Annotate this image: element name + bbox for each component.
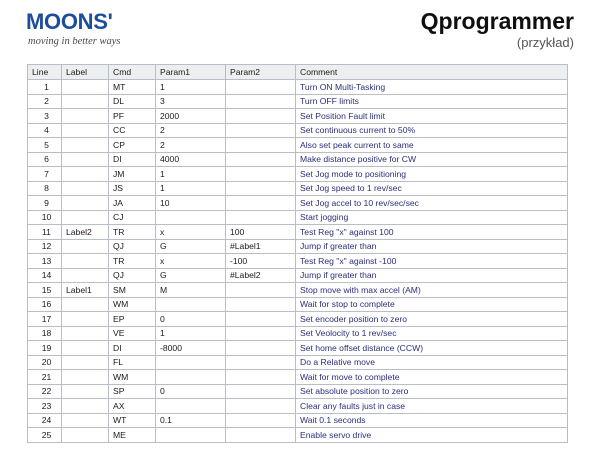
- cell-param2[interactable]: 100: [226, 225, 296, 240]
- cell-param2[interactable]: [226, 181, 296, 196]
- cell-param2[interactable]: [226, 80, 296, 95]
- cell-comment[interactable]: Jump if greater than: [296, 239, 568, 254]
- table-row[interactable]: 17EP0Set encoder position to zero: [28, 312, 568, 327]
- brand-tagline: moving in better ways: [28, 36, 166, 48]
- cell-cmd[interactable]: SM: [109, 283, 156, 298]
- cell-cmd[interactable]: JS: [109, 181, 156, 196]
- cell-line[interactable]: 4: [28, 123, 62, 138]
- cell-cmd[interactable]: PF: [109, 109, 156, 124]
- cell-param1[interactable]: 3: [156, 94, 226, 109]
- cell-param1[interactable]: [156, 297, 226, 312]
- cell-cmd[interactable]: CP: [109, 138, 156, 153]
- cell-comment[interactable]: Set Jog accel to 10 rev/sec/sec: [296, 196, 568, 211]
- cell-label[interactable]: [62, 94, 109, 109]
- cell-param2[interactable]: [226, 138, 296, 153]
- cell-comment[interactable]: Wait for stop to complete: [296, 297, 568, 312]
- cell-param1[interactable]: 1: [156, 80, 226, 95]
- cell-comment[interactable]: Enable servo drive: [296, 428, 568, 443]
- brand-wordmark: MOONS': [26, 11, 166, 33]
- cell-cmd[interactable]: MT: [109, 80, 156, 95]
- column-header-line: Line: [28, 65, 62, 80]
- cell-line[interactable]: 8: [28, 181, 62, 196]
- cell-param1[interactable]: 2: [156, 123, 226, 138]
- cell-label[interactable]: [62, 399, 109, 414]
- cell-param1[interactable]: x: [156, 254, 226, 269]
- table-row[interactable]: 25MEEnable servo drive: [28, 428, 568, 443]
- cell-line[interactable]: 18: [28, 326, 62, 341]
- table-row[interactable]: 5CP2Also set peak current to same: [28, 138, 568, 153]
- table-row[interactable]: 2DL3Turn OFF limits: [28, 94, 568, 109]
- cell-line[interactable]: 25: [28, 428, 62, 443]
- cell-comment[interactable]: Also set peak current to same: [296, 138, 568, 153]
- cell-param2[interactable]: [226, 167, 296, 182]
- table-row[interactable]: 4CC2Set continuous current to 50%: [28, 123, 568, 138]
- cell-param2[interactable]: #Label2: [226, 268, 296, 283]
- cell-param1[interactable]: [156, 210, 226, 225]
- cell-label[interactable]: [62, 355, 109, 370]
- cell-param2[interactable]: [226, 109, 296, 124]
- cell-label[interactable]: [62, 196, 109, 211]
- cell-param1[interactable]: 0: [156, 384, 226, 399]
- cell-param2[interactable]: [226, 370, 296, 385]
- table-row[interactable]: 12QJG#Label1Jump if greater than: [28, 239, 568, 254]
- column-header-cmd: Cmd: [109, 65, 156, 80]
- table-row[interactable]: 22SP0Set absolute position to zero: [28, 384, 568, 399]
- table-row[interactable]: 23AXClear any faults just in case: [28, 399, 568, 414]
- cell-line[interactable]: 22: [28, 384, 62, 399]
- cell-line[interactable]: 21: [28, 370, 62, 385]
- cell-comment[interactable]: Set Position Fault limit: [296, 109, 568, 124]
- table-row[interactable]: 18VE1Set Veolocity to 1 rev/sec: [28, 326, 568, 341]
- cell-label[interactable]: [62, 123, 109, 138]
- cell-line[interactable]: 23: [28, 399, 62, 414]
- table-row[interactable]: 24WT0.1Wait 0.1 seconds: [28, 413, 568, 428]
- cell-line[interactable]: 9: [28, 196, 62, 211]
- cell-param1[interactable]: 0.1: [156, 413, 226, 428]
- cell-cmd[interactable]: CC: [109, 123, 156, 138]
- cell-cmd[interactable]: EP: [109, 312, 156, 327]
- table-row[interactable]: 11Label2TRx100Test Reg "x" against 100: [28, 225, 568, 240]
- cell-param2[interactable]: [226, 94, 296, 109]
- cell-comment[interactable]: Test Reg "x" against -100: [296, 254, 568, 269]
- cell-cmd[interactable]: WM: [109, 297, 156, 312]
- cell-line[interactable]: 19: [28, 341, 62, 356]
- cell-param2[interactable]: [226, 413, 296, 428]
- cell-comment[interactable]: Wait 0.1 seconds: [296, 413, 568, 428]
- table-row[interactable]: 13TRx-100Test Reg "x" against -100: [28, 254, 568, 269]
- cell-param2[interactable]: [226, 210, 296, 225]
- cell-param2[interactable]: [226, 297, 296, 312]
- table-row[interactable]: 7JM1Set Jog mode to positioning: [28, 167, 568, 182]
- cell-param1[interactable]: 2000: [156, 109, 226, 124]
- cell-comment[interactable]: Make distance positive for CW: [296, 152, 568, 167]
- cell-param1[interactable]: G: [156, 239, 226, 254]
- cell-line[interactable]: 24: [28, 413, 62, 428]
- cell-cmd[interactable]: TR: [109, 254, 156, 269]
- table-row[interactable]: 1MT1Turn ON Multi-Tasking: [28, 80, 568, 95]
- cell-param2[interactable]: [226, 152, 296, 167]
- cell-cmd[interactable]: ME: [109, 428, 156, 443]
- cell-cmd[interactable]: JA: [109, 196, 156, 211]
- cell-line[interactable]: 15: [28, 283, 62, 298]
- title-block: Qprogrammer (przykład): [421, 8, 574, 51]
- cell-cmd[interactable]: FL: [109, 355, 156, 370]
- cell-param1[interactable]: [156, 355, 226, 370]
- cell-cmd[interactable]: QJ: [109, 268, 156, 283]
- cell-comment[interactable]: Test Reg "x" against 100: [296, 225, 568, 240]
- cell-line[interactable]: 3: [28, 109, 62, 124]
- cell-label[interactable]: [62, 210, 109, 225]
- cell-label[interactable]: [62, 312, 109, 327]
- cell-label[interactable]: [62, 384, 109, 399]
- cell-comment[interactable]: Clear any faults just in case: [296, 399, 568, 414]
- cell-comment[interactable]: Turn ON Multi-Tasking: [296, 80, 568, 95]
- table-row[interactable]: 20FLDo a Relative move: [28, 355, 568, 370]
- cell-param2[interactable]: [226, 312, 296, 327]
- cell-comment[interactable]: Set continuous current to 50%: [296, 123, 568, 138]
- cell-line[interactable]: 12: [28, 239, 62, 254]
- cell-cmd[interactable]: SP: [109, 384, 156, 399]
- table-row[interactable]: 15Label1SMMStop move with max accel (AM): [28, 283, 568, 298]
- table-header-row: Line Label Cmd Param1 Param2 Comment: [28, 65, 568, 80]
- cell-param1[interactable]: [156, 399, 226, 414]
- cell-line[interactable]: 5: [28, 138, 62, 153]
- cell-param2[interactable]: [226, 341, 296, 356]
- cell-label[interactable]: [62, 297, 109, 312]
- cell-cmd[interactable]: TR: [109, 225, 156, 240]
- cell-param2[interactable]: [226, 428, 296, 443]
- cell-comment[interactable]: Wait for move to complete: [296, 370, 568, 385]
- cell-label[interactable]: [62, 138, 109, 153]
- cell-param1[interactable]: 10: [156, 196, 226, 211]
- cell-label[interactable]: Label2: [62, 225, 109, 240]
- table-row[interactable]: 19DI-8000Set home offset distance (CCW): [28, 341, 568, 356]
- cell-label[interactable]: [62, 413, 109, 428]
- cell-cmd[interactable]: QJ: [109, 239, 156, 254]
- cell-line[interactable]: 14: [28, 268, 62, 283]
- cell-param2[interactable]: [226, 355, 296, 370]
- cell-param1[interactable]: x: [156, 225, 226, 240]
- page-header: MOONS' moving in better ways Qprogrammer…: [0, 0, 600, 58]
- table-row[interactable]: 3PF2000Set Position Fault limit: [28, 109, 568, 124]
- column-header-param2: Param2: [226, 65, 296, 80]
- cell-label[interactable]: [62, 428, 109, 443]
- cell-comment[interactable]: Set home offset distance (CCW): [296, 341, 568, 356]
- cell-param2[interactable]: [226, 123, 296, 138]
- cell-comment[interactable]: Set Jog mode to positioning: [296, 167, 568, 182]
- table-body: 1MT1Turn ON Multi-Tasking2DL3Turn OFF li…: [28, 80, 568, 443]
- cell-param1[interactable]: G: [156, 268, 226, 283]
- cell-param1[interactable]: 4000: [156, 152, 226, 167]
- column-header-comment: Comment: [296, 65, 568, 80]
- cell-label[interactable]: [62, 181, 109, 196]
- cell-line[interactable]: 13: [28, 254, 62, 269]
- cell-label[interactable]: [62, 152, 109, 167]
- cell-comment[interactable]: Set Veolocity to 1 rev/sec: [296, 326, 568, 341]
- cell-param2[interactable]: [226, 196, 296, 211]
- cell-comment[interactable]: Start jogging: [296, 210, 568, 225]
- table-row[interactable]: 16WMWait for stop to complete: [28, 297, 568, 312]
- table-row[interactable]: 8JS1Set Jog speed to 1 rev/sec: [28, 181, 568, 196]
- cell-param1[interactable]: 0: [156, 312, 226, 327]
- cell-cmd[interactable]: DI: [109, 341, 156, 356]
- cell-param2[interactable]: [226, 283, 296, 298]
- cell-line[interactable]: 7: [28, 167, 62, 182]
- cell-cmd[interactable]: WT: [109, 413, 156, 428]
- table-row[interactable]: 9JA10Set Jog accel to 10 rev/sec/sec: [28, 196, 568, 211]
- cell-comment[interactable]: Do a Relative move: [296, 355, 568, 370]
- cell-label[interactable]: [62, 268, 109, 283]
- cell-param2[interactable]: #Label1: [226, 239, 296, 254]
- table-row[interactable]: 14QJG#Label2Jump if greater than: [28, 268, 568, 283]
- cell-param2[interactable]: [226, 384, 296, 399]
- cell-label[interactable]: [62, 80, 109, 95]
- cell-label[interactable]: [62, 254, 109, 269]
- program-table-container: Line Label Cmd Param1 Param2 Comment 1MT…: [27, 64, 567, 443]
- cell-cmd[interactable]: DI: [109, 152, 156, 167]
- cell-param1[interactable]: M: [156, 283, 226, 298]
- moons-logo: MOONS' moving in better ways: [26, 11, 166, 48]
- cell-label[interactable]: [62, 109, 109, 124]
- cell-label[interactable]: [62, 326, 109, 341]
- cell-param1[interactable]: 1: [156, 181, 226, 196]
- table-row[interactable]: 6DI4000Make distance positive for CW: [28, 152, 568, 167]
- cell-param1[interactable]: 2: [156, 138, 226, 153]
- cell-cmd[interactable]: CJ: [109, 210, 156, 225]
- cell-comment[interactable]: Set absolute position to zero: [296, 384, 568, 399]
- cell-label[interactable]: Label1: [62, 283, 109, 298]
- cell-cmd[interactable]: JM: [109, 167, 156, 182]
- cell-label[interactable]: [62, 239, 109, 254]
- cell-cmd[interactable]: DL: [109, 94, 156, 109]
- cell-comment[interactable]: Jump if greater than: [296, 268, 568, 283]
- cell-comment[interactable]: Set Jog speed to 1 rev/sec: [296, 181, 568, 196]
- cell-comment[interactable]: Stop move with max accel (AM): [296, 283, 568, 298]
- cell-line[interactable]: 11: [28, 225, 62, 240]
- table-row[interactable]: 10CJStart jogging: [28, 210, 568, 225]
- cell-param1[interactable]: -8000: [156, 341, 226, 356]
- cell-param2[interactable]: [226, 326, 296, 341]
- cell-label[interactable]: [62, 167, 109, 182]
- cell-line[interactable]: 17: [28, 312, 62, 327]
- cell-comment[interactable]: Set encoder position to zero: [296, 312, 568, 327]
- cell-cmd[interactable]: VE: [109, 326, 156, 341]
- cell-label[interactable]: [62, 341, 109, 356]
- page-title: Qprogrammer: [421, 8, 574, 34]
- cell-line[interactable]: 2: [28, 94, 62, 109]
- cell-line[interactable]: 1: [28, 80, 62, 95]
- cell-param2[interactable]: [226, 399, 296, 414]
- table-header: Line Label Cmd Param1 Param2 Comment: [28, 65, 568, 80]
- table-row[interactable]: 21WMWait for move to complete: [28, 370, 568, 385]
- cell-param2[interactable]: -100: [226, 254, 296, 269]
- program-table: Line Label Cmd Param1 Param2 Comment 1MT…: [27, 64, 568, 443]
- cell-param1[interactable]: [156, 370, 226, 385]
- cell-comment[interactable]: Turn OFF limits: [296, 94, 568, 109]
- cell-cmd[interactable]: AX: [109, 399, 156, 414]
- cell-line[interactable]: 6: [28, 152, 62, 167]
- cell-param1[interactable]: 1: [156, 326, 226, 341]
- cell-line[interactable]: 16: [28, 297, 62, 312]
- cell-line[interactable]: 10: [28, 210, 62, 225]
- cell-param1[interactable]: [156, 428, 226, 443]
- column-header-label: Label: [62, 65, 109, 80]
- cell-label[interactable]: [62, 370, 109, 385]
- cell-line[interactable]: 20: [28, 355, 62, 370]
- cell-cmd[interactable]: WM: [109, 370, 156, 385]
- column-header-param1: Param1: [156, 65, 226, 80]
- page-subtitle: (przykład): [421, 35, 574, 51]
- cell-param1[interactable]: 1: [156, 167, 226, 182]
